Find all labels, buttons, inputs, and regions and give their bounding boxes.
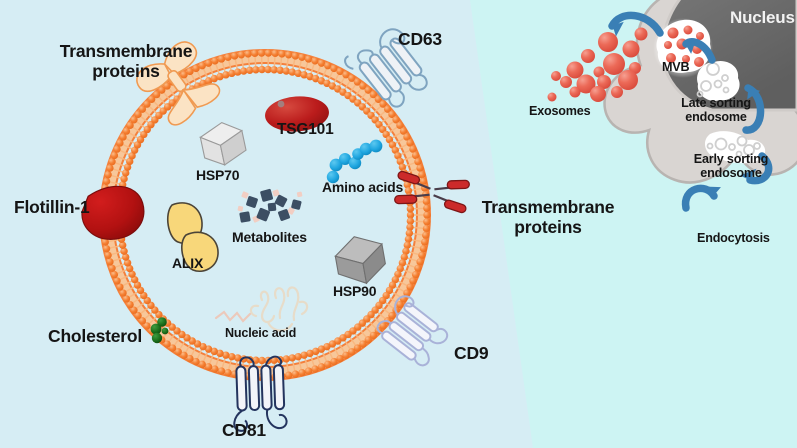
arrow-endocytosis [686, 188, 714, 208]
label-hsp70: HSP70 [196, 168, 239, 184]
late-sorting-endosome [697, 61, 739, 101]
label-alix: ALIX [172, 256, 203, 272]
label-cholesterol: Cholesterol [48, 327, 142, 347]
label-flotillin-1: Flotillin-1 [14, 198, 90, 218]
label-late-sorting-endosome: Late sorting endosome [660, 96, 772, 124]
label-tsg101: TSG101 [277, 121, 334, 138]
label-nucleus: Nucleus [730, 8, 795, 27]
label-metabolites: Metabolites [232, 230, 307, 246]
label-nucleic-acid: Nucleic acid [225, 326, 296, 340]
figure-canvas: Transmembrane proteins CD63 TSG101 HSP70… [0, 0, 797, 448]
label-mvb: MVB [662, 60, 689, 74]
label-exosomes: Exosomes [529, 104, 590, 118]
label-cd81: CD81 [222, 421, 266, 441]
label-cd9: CD9 [454, 344, 488, 364]
label-early-sorting-endosome: Early sorting endosome [676, 152, 786, 180]
label-amino-acids: Amino acids [322, 180, 403, 196]
label-hsp90: HSP90 [333, 284, 376, 300]
label-endocytosis: Endocytosis [697, 231, 770, 245]
label-transmembrane-proteins-right: Transmembrane proteins [468, 198, 628, 237]
label-transmembrane-proteins-left: Transmembrane proteins [46, 42, 206, 81]
exosomes-cluster [548, 28, 648, 103]
label-cd63: CD63 [398, 30, 442, 50]
